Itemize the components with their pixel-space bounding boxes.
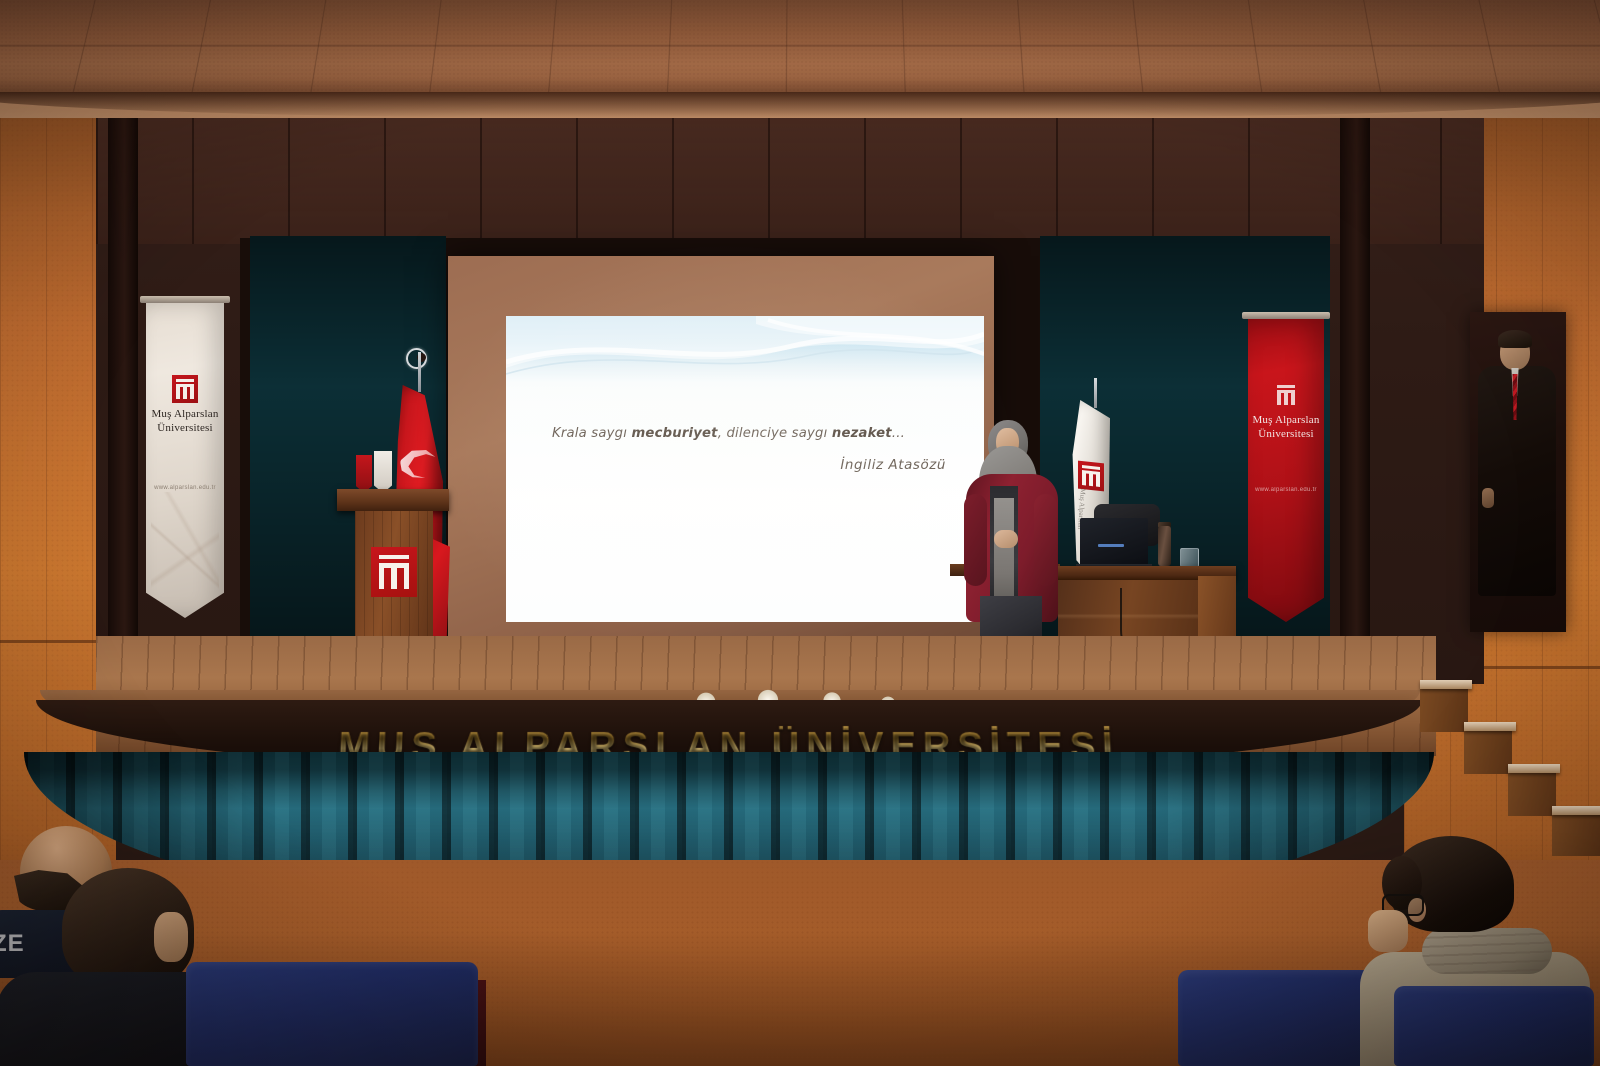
quote-segment-1: Krala saygı [552,426,631,441]
person-hair [1390,836,1514,932]
jacket-text: ZE [0,930,25,958]
quote-bold-1: mecburiyet [631,426,717,441]
banner-rod [140,296,230,303]
quote-bold-2: nezaket [832,426,892,441]
portrait-hand [1482,488,1494,508]
logo-glyph [377,554,410,590]
banner-fabric: Muş Alparslan Üniversitesi www.alparslan… [146,303,224,618]
portrait-hair [1498,330,1532,348]
conference-hall-photo: Krala saygı mecburiyet, dilenciye saygı … [0,0,1600,1066]
slide-attribution: İngiliz Atasözü [552,458,946,473]
laptop-icon [1080,518,1148,566]
stair-riser-1 [1420,684,1468,732]
audience-chair-left[interactable] [186,962,478,1066]
quote-ellipsis: … [892,426,905,441]
speaker-right-arm [1034,494,1057,586]
stair-riser-3 [1508,768,1556,816]
stair-step-2 [1464,722,1516,731]
quote-segment-2: , dilenciye saygı [718,426,832,441]
banner-rod [1242,312,1330,319]
speaker-left-arm [964,494,987,586]
university-logo-icon [1273,381,1299,409]
banner-title-line1: Muş Alparslan [1248,413,1324,427]
proscenium-pillar-left [108,118,138,684]
presentation-slide: Krala saygı mecburiyet, dilenciye saygı … [506,316,984,622]
banner-title-line2: Üniversitesi [146,421,224,435]
laptop-screen-glow [1098,544,1124,547]
logo-glyph [176,379,195,399]
portrait-suit [1478,366,1556,596]
person-scarf [1422,928,1552,974]
flag-crescent-star-finial [406,348,427,369]
university-flag-logo-icon [1078,461,1104,492]
stair-step-1 [1420,680,1472,689]
desk-flag-white [374,451,392,493]
university-flag-pole [1094,378,1097,408]
university-logo-icon [371,547,417,597]
portrait-banner [1470,312,1566,632]
stair-riser-2 [1464,726,1512,774]
person-hand [1368,910,1408,952]
speaker-hands [994,530,1018,548]
stair-step-3 [1508,764,1560,773]
speaker-scarf-drape [994,498,1014,606]
water-glass-icon [1180,548,1199,568]
audience-chair-mid[interactable] [1178,970,1382,1066]
logo-glyph [1277,385,1296,405]
banner-white-left: Muş Alparslan Üniversitesi www.alparslan… [146,296,224,618]
banner-title-line1: Muş Alparslan [146,407,224,421]
stair-step-4 [1552,806,1600,815]
banner-fabric: Muş Alparslan Üniversitesi www.alparslan… [1248,319,1324,622]
banner-url: www.alparslan.edu.tr [146,485,224,491]
slide-quote-text: Krala saygı mecburiyet, dilenciye saygı … [552,426,946,441]
banner-watermark-pattern [151,492,220,605]
proscenium-pillar-right [1340,118,1370,684]
proscenium-top-panel [96,118,1484,244]
thermos-icon [1158,526,1171,566]
banner-title-line2: Üniversitesi [1248,427,1324,441]
person-ear [154,912,188,962]
podium-top-surface [337,489,449,511]
desk-flag-red [356,455,372,493]
banner-url: www.alparslan.edu.tr [1248,487,1324,493]
audience-chair-right[interactable] [1394,986,1594,1066]
slide-wave-decoration [506,316,984,396]
logo-glyph [1082,465,1101,487]
banner-red-right: Muş Alparslan Üniversitesi www.alparslan… [1248,312,1324,622]
flag-pole [418,352,421,392]
university-logo-icon [172,375,198,403]
